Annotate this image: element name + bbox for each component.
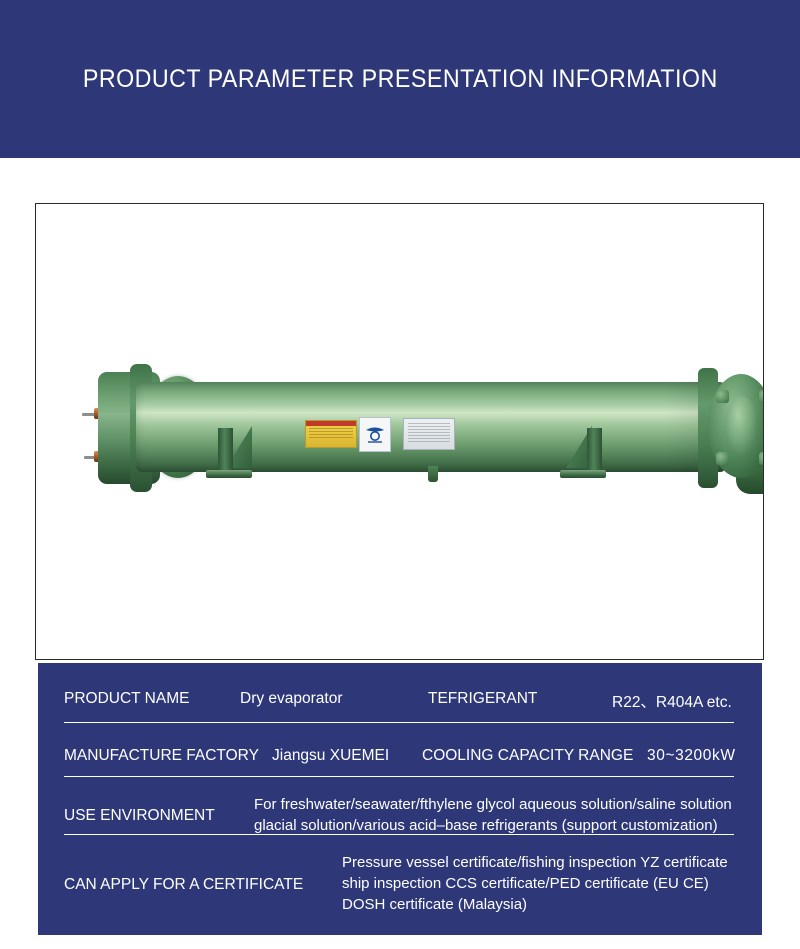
row-label-certificate: CAN APPLY FOR A CERTIFICATE <box>64 876 303 894</box>
row-value-cooling-capacity-range: 30~3200kW <box>647 747 736 765</box>
specification-table: PRODUCT NAME Dry evaporator TEFRIGERANT … <box>38 663 762 935</box>
table-row: MANUFACTURE FACTORY Jiangsu XUEMEI COOLI… <box>38 722 762 776</box>
warning-label <box>305 420 357 448</box>
row-value-product-name: Dry evaporator <box>240 690 343 708</box>
certification-label <box>359 417 391 452</box>
nameplate-label <box>403 418 455 450</box>
row-label-product-name: PRODUCT NAME <box>64 690 189 708</box>
bonnet-bolt-boss <box>759 390 764 403</box>
row-label-cooling-capacity-range: COOLING CAPACITY RANGE <box>422 747 633 765</box>
table-row: CAN APPLY FOR A CERTIFICATE Pressure ves… <box>38 834 762 935</box>
drain-fitting <box>428 466 438 482</box>
row-value-certificate: Pressure vessel certificate/fishing insp… <box>342 852 782 915</box>
row-label-use-environment: USE ENVIRONMENT <box>64 807 215 825</box>
page-title: PRODUCT PARAMETER PRESENTATION INFORMATI… <box>83 65 718 94</box>
row-label-refrigerant: TEFRIGERANT <box>428 690 537 708</box>
row-value-use-environment: For freshwater/seawater/fthylene glycol … <box>254 794 754 836</box>
header-banner: PRODUCT PARAMETER PRESENTATION INFORMATI… <box>0 0 800 158</box>
table-row: PRODUCT NAME Dry evaporator TEFRIGERANT … <box>38 663 762 722</box>
certification-logo-icon <box>364 423 386 447</box>
table-row: USE ENVIRONMENT For freshwater/seawater/… <box>38 776 762 834</box>
product-image-frame <box>35 203 764 660</box>
row-label-manufacture-factory: MANUFACTURE FACTORY <box>64 747 259 765</box>
heat-exchanger-illustration <box>36 204 761 657</box>
bonnet-bolt-boss <box>716 390 729 403</box>
right-bonnet-center-dome <box>725 396 758 454</box>
row-value-manufacture-factory: Jiangsu XUEMEI <box>272 747 389 765</box>
row-value-refrigerant: R22、R404A etc. <box>612 690 732 712</box>
bonnet-bolt-boss <box>759 452 764 465</box>
bonnet-bolt-boss <box>716 452 729 465</box>
